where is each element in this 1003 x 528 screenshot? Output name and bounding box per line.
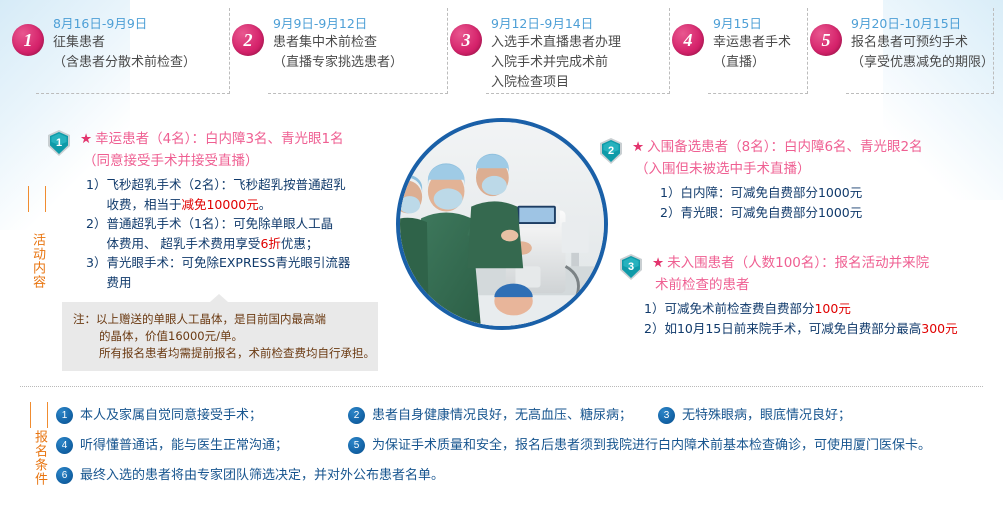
side-label-rule-bottom xyxy=(30,402,31,428)
timeline-step-text: 9月12日-9月14日 入选手术直播患者办理 入院手术并完成术前 入院检查项目 xyxy=(491,8,621,93)
list-item-line1: 青光眼手术：可免除EXPRESS青光眼引流器 xyxy=(106,255,350,270)
list-item-highlight: 100元 xyxy=(814,301,850,316)
block-heading-text: ★入围备选患者（8名）：白内障6名、青光眼2名 （入围但未被选中手术直播） xyxy=(632,136,923,180)
block-title-text: 未入围患者（人数100名）：报名活动并来院 xyxy=(667,255,929,271)
list-item: 1） 白内障：可减免自费部分1000元 xyxy=(660,183,996,203)
block-item-list: 1） 可减免术前检查费自费部分100元 2） 如10月15日前来院手术，可减免自… xyxy=(618,299,996,338)
list-item-line2: 费用 xyxy=(106,275,131,290)
list-item: 1） 飞秒超乳手术（2名）：飞秒超乳按普通超乳收费，相当于减免10000元。 xyxy=(86,175,376,214)
list-item-suffix: 。 xyxy=(259,197,272,212)
svg-text:2: 2 xyxy=(608,145,614,157)
timeline-step-line: 入院手术并完成术前 xyxy=(491,53,621,73)
condition-item: 2 患者自身健康情况良好，无高血压、糖尿病； xyxy=(348,404,658,427)
list-item-index: 1） xyxy=(660,183,680,203)
condition-item: 5 为保证手术质量和安全，报名后患者须到我院进行白内障术前基本检查确诊，可使用厦… xyxy=(348,434,958,457)
block-heading-text: ★未入围患者（人数100名）：报名活动并来院 术前检查的患者 xyxy=(652,252,929,296)
timeline-step-line: （直播） xyxy=(713,53,791,73)
timeline-step-text: 8月16日-9月9日 征集患者 （含患者分散术前检查） xyxy=(53,8,196,73)
side-label-activity-content: 活动内容 xyxy=(20,186,46,336)
timeline-step-4: 4 9月15日 幸运患者手术 （直播） xyxy=(672,8,810,94)
timeline-step-text: 9月15日 幸运患者手术 （直播） xyxy=(713,8,791,73)
timeline-step-line: 入院检查项目 xyxy=(491,73,621,93)
block-subtitle: （入围但未被选中手术直播） xyxy=(632,158,923,180)
timeline-step-number: 3 xyxy=(450,24,482,56)
block-subtitle: 术前检查的患者 xyxy=(652,274,929,296)
timeline-step-text: 9月9日-9月12日 患者集中术前检查 （直播专家挑选患者） xyxy=(273,8,403,73)
list-item: 3） 青光眼手术：可免除EXPRESS青光眼引流器费用 xyxy=(86,253,376,292)
condition-item: 1 本人及家属自觉同意接受手术； xyxy=(56,404,348,427)
list-item-line1: 飞秒超乳手术（2名）：飞秒超乳按普通超乳 xyxy=(106,177,345,192)
content-block-shortlisted-patients: 2 ★入围备选患者（8名）：白内障6名、青光眼2名 （入围但未被选中手术直播） … xyxy=(598,136,996,222)
condition-number: 3 xyxy=(658,407,675,424)
shield-badge-3-icon: 3 xyxy=(618,253,644,281)
list-item-index: 2） xyxy=(86,214,106,234)
timeline-step-text: 9月20日-10月15日 报名患者可预约手术 （享受优惠减免的期限） xyxy=(851,8,994,73)
condition-text: 无特殊眼病，眼底情况良好； xyxy=(682,404,851,427)
list-item-highlight: 300元 xyxy=(921,321,957,336)
side-label-registration-conditions: 报名条件 xyxy=(22,402,48,514)
list-item-line2: 收费，相当于 xyxy=(106,197,181,212)
condition-item: 3 无特殊眼病，眼底情况良好； xyxy=(658,404,918,427)
timeline-step-line: （含患者分散术前检查） xyxy=(53,53,196,73)
list-item-text: 青光眼手术：可免除EXPRESS青光眼引流器费用 xyxy=(106,253,350,292)
block-item-list: 1） 飞秒超乳手术（2名）：飞秒超乳按普通超乳收费，相当于减免10000元。 2… xyxy=(46,175,376,292)
conditions-row: 6 最终入选的患者将由专家团队筛选决定，并对外公布患者名单。 xyxy=(56,464,986,494)
timeline-step-number: 2 xyxy=(232,24,264,56)
timeline: 1 8月16日-9月9日 征集患者 （含患者分散术前检查） 2 9月9日-9月1… xyxy=(0,8,1003,104)
list-item: 2） 青光眼：可减免自费部分1000元 xyxy=(660,203,996,223)
list-item-index: 3） xyxy=(86,253,106,273)
list-item-text: 飞秒超乳手术（2名）：飞秒超乳按普通超乳收费，相当于减免10000元。 xyxy=(106,175,345,214)
block-title: ★未入围患者（人数100名）：报名活动并来院 xyxy=(652,252,929,274)
list-item-highlight: 减免10000元 xyxy=(181,197,258,212)
block-title-text: 幸运患者（4名）：白内障3名、青光眼1名 xyxy=(95,131,344,147)
condition-item: 4 听得懂普通话，能与医生正常沟通； xyxy=(56,434,348,457)
timeline-step-3: 3 9月12日-9月14日 入选手术直播患者办理 入院手术并完成术前 入院检查项… xyxy=(450,8,672,94)
condition-text: 最终入选的患者将由专家团队筛选决定，并对外公布患者名单。 xyxy=(80,464,444,487)
svg-text:3: 3 xyxy=(628,261,634,273)
block-header: 1 ★幸运患者（4名）：白内障3名、青光眼1名 （同意接受手术并接受直播） xyxy=(46,128,376,172)
condition-item: 6 最终入选的患者将由专家团队筛选决定，并对外公布患者名单。 xyxy=(56,464,696,487)
timeline-step-line: （直播专家挑选患者） xyxy=(273,53,403,73)
list-item-line2: 体费用、 超乳手术费用享受 xyxy=(106,236,260,251)
timeline-step-date: 9月12日-9月14日 xyxy=(491,14,621,33)
timeline-step-5: 5 9月20日-10月15日 报名患者可预约手术 （享受优惠减免的期限） xyxy=(810,8,996,94)
registration-conditions-list: 1 本人及家属自觉同意接受手术； 2 患者自身健康情况良好，无高血压、糖尿病； … xyxy=(56,404,986,494)
side-label-rule-top xyxy=(47,402,48,428)
timeline-step-line: 征集患者 xyxy=(53,33,196,53)
block-subtitle: （同意接受手术并接受直播） xyxy=(80,150,344,172)
condition-text: 听得懂普通话，能与医生正常沟通； xyxy=(80,434,288,457)
list-item: 2） 如10月15日前来院手术，可减免自费部分最高300元 xyxy=(644,319,996,339)
condition-text: 为保证手术质量和安全，报名后患者须到我院进行白内障术前基本检查确诊，可使用厦门医… xyxy=(372,434,931,457)
condition-number: 2 xyxy=(348,407,365,424)
timeline-step-date: 9月15日 xyxy=(713,14,791,33)
list-item: 1） 可减免术前检查费自费部分100元 xyxy=(644,299,996,319)
condition-number: 1 xyxy=(56,407,73,424)
conditions-row: 1 本人及家属自觉同意接受手术； 2 患者自身健康情况良好，无高血压、糖尿病； … xyxy=(56,404,986,434)
timeline-step-line: 患者集中术前检查 xyxy=(273,33,403,53)
content-block-not-shortlisted-patients: 3 ★未入围患者（人数100名）：报名活动并来院 术前检查的患者 1） 可减免术… xyxy=(618,252,996,338)
block-header: 2 ★入围备选患者（8名）：白内障6名、青光眼2名 （入围但未被选中手术直播） xyxy=(598,136,996,180)
list-item: 2） 普通超乳手术（1名）：可免除单眼人工晶体费用、 超乳手术费用享受6折优惠； xyxy=(86,214,376,253)
list-item-line1: 普通超乳手术（1名）：可免除单眼人工晶 xyxy=(106,216,333,231)
timeline-step-line: 幸运患者手术 xyxy=(713,33,791,53)
condition-text: 本人及家属自觉同意接受手术； xyxy=(80,404,262,427)
shield-badge-1-icon: 1 xyxy=(46,129,72,157)
timeline-step-number: 5 xyxy=(810,24,842,56)
list-item-text: 青光眼：可减免自费部分1000元 xyxy=(680,203,862,223)
list-item-highlight: 6折 xyxy=(260,236,280,251)
timeline-step-number: 1 xyxy=(12,24,44,56)
block-title: ★入围备选患者（8名）：白内障6名、青光眼2名 xyxy=(632,136,923,158)
star-icon: ★ xyxy=(652,255,664,271)
list-item-index: 1） xyxy=(644,299,664,319)
timeline-step-line: 入选手术直播患者办理 xyxy=(491,33,621,53)
conditions-row: 4 听得懂普通话，能与医生正常沟通； 5 为保证手术质量和安全，报名后患者须到我… xyxy=(56,434,986,464)
content-block-lucky-patients: 1 ★幸运患者（4名）：白内障3名、青光眼1名 （同意接受手术并接受直播） 1）… xyxy=(46,128,376,292)
surgery-photo-illustration xyxy=(400,122,604,326)
side-label-registration-conditions-text: 报名条件 xyxy=(32,430,47,486)
condition-number: 6 xyxy=(56,467,73,484)
timeline-step-line: 报名患者可预约手术 xyxy=(851,33,994,53)
list-item-text: 普通超乳手术（1名）：可免除单眼人工晶体费用、 超乳手术费用享受6折优惠； xyxy=(106,214,333,253)
list-item-index: 2） xyxy=(660,203,680,223)
timeline-step-date: 9月9日-9月12日 xyxy=(273,14,403,33)
star-icon: ★ xyxy=(632,139,644,155)
condition-number: 4 xyxy=(56,437,73,454)
side-label-activity-content-text: 活动内容 xyxy=(30,233,45,289)
shield-badge-2-icon: 2 xyxy=(598,137,624,165)
list-item-text: 可减免术前检查费自费部分100元 xyxy=(664,299,850,319)
timeline-step-number: 4 xyxy=(672,24,704,56)
block-title: ★幸运患者（4名）：白内障3名、青光眼1名 xyxy=(80,128,344,150)
list-item-suffix: 优惠； xyxy=(281,236,319,251)
list-item-text: 如10月15日前来院手术，可减免自费部分最高300元 xyxy=(664,319,957,339)
block-item-list: 1） 白内障：可减免自费部分1000元 2） 青光眼：可减免自费部分1000元 xyxy=(598,183,996,222)
block-heading-text: ★幸运患者（4名）：白内障3名、青光眼1名 （同意接受手术并接受直播） xyxy=(80,128,344,172)
block-title-text: 入围备选患者（8名）：白内障6名、青光眼2名 xyxy=(647,139,923,155)
note-line-2: 的晶体，价值16000元/单。 xyxy=(73,328,368,345)
timeline-step-1: 1 8月16日-9月9日 征集患者 （含患者分散术前检查） xyxy=(0,8,232,94)
list-item-text: 白内障：可减免自费部分1000元 xyxy=(680,183,862,203)
surgery-photo xyxy=(396,118,608,330)
svg-text:1: 1 xyxy=(56,137,62,149)
condition-number: 5 xyxy=(348,437,365,454)
list-item-index: 2） xyxy=(644,319,664,339)
side-label-rule-bottom xyxy=(28,186,29,212)
timeline-step-date: 8月16日-9月9日 xyxy=(53,14,196,33)
note-line-3: 所有报名患者均需提前报名，术前检查费均自行承担。 xyxy=(73,345,368,362)
section-divider xyxy=(20,386,983,387)
list-item-line1: 可减免术前检查费自费部分 xyxy=(664,301,814,316)
list-item-index: 1） xyxy=(86,175,106,195)
timeline-step-line: （享受优惠减免的期限） xyxy=(851,53,994,73)
timeline-step-2: 2 9月9日-9月12日 患者集中术前检查 （直播专家挑选患者） xyxy=(232,8,450,94)
note-line-1: 注：以上赠送的单眼人工晶体，是目前国内最高端 xyxy=(73,311,368,328)
note-callout: 注：以上赠送的单眼人工晶体，是目前国内最高端 的晶体，价值16000元/单。 所… xyxy=(62,302,378,371)
condition-text: 患者自身健康情况良好，无高血压、糖尿病； xyxy=(372,404,632,427)
promo-page: 1 8月16日-9月9日 征集患者 （含患者分散术前检查） 2 9月9日-9月1… xyxy=(0,0,1003,528)
timeline-step-date: 9月20日-10月15日 xyxy=(851,14,994,33)
block-header: 3 ★未入围患者（人数100名）：报名活动并来院 术前检查的患者 xyxy=(618,252,996,296)
star-icon: ★ xyxy=(80,131,92,147)
list-item-line1: 如10月15日前来院手术，可减免自费部分最高 xyxy=(664,321,921,336)
